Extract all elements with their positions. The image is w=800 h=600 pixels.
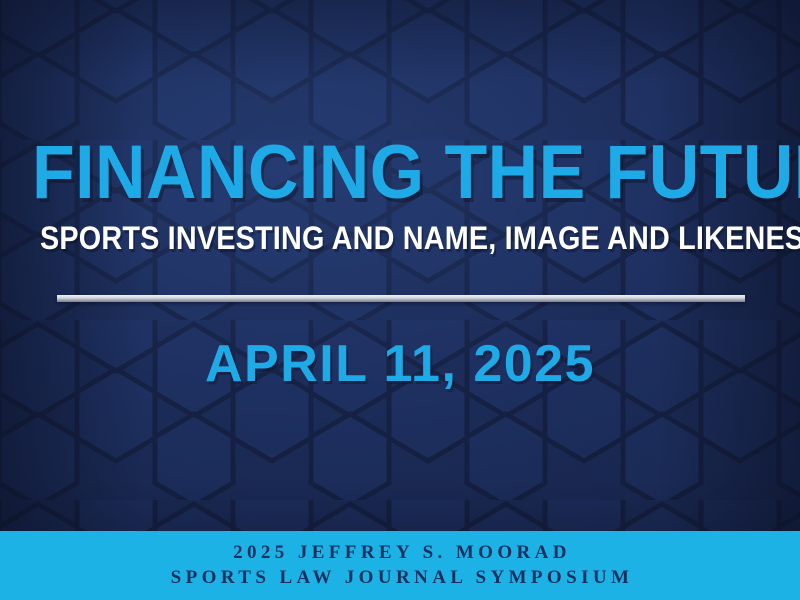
event-date: APRIL 11, 2025	[0, 338, 800, 390]
page-title: FINANCING THE FUTURE	[32, 138, 768, 208]
title-block: FINANCING THE FUTURE SPORTS INVESTING AN…	[0, 138, 800, 256]
poster-content: FINANCING THE FUTURE SPORTS INVESTING AN…	[0, 0, 800, 600]
divider-rule	[57, 295, 745, 302]
page-subtitle: SPORTS INVESTING AND NAME, IMAGE AND LIK…	[40, 222, 760, 256]
footer-organization-line-2: SPORTS LAW JOURNAL SYMPOSIUM	[167, 566, 634, 590]
footer-organization-line-1: 2025 JEFFREY S. MOORAD	[229, 541, 571, 565]
footer-band: 2025 JEFFREY S. MOORAD SPORTS LAW JOURNA…	[0, 531, 800, 600]
event-poster: FINANCING THE FUTURE SPORTS INVESTING AN…	[0, 0, 800, 600]
